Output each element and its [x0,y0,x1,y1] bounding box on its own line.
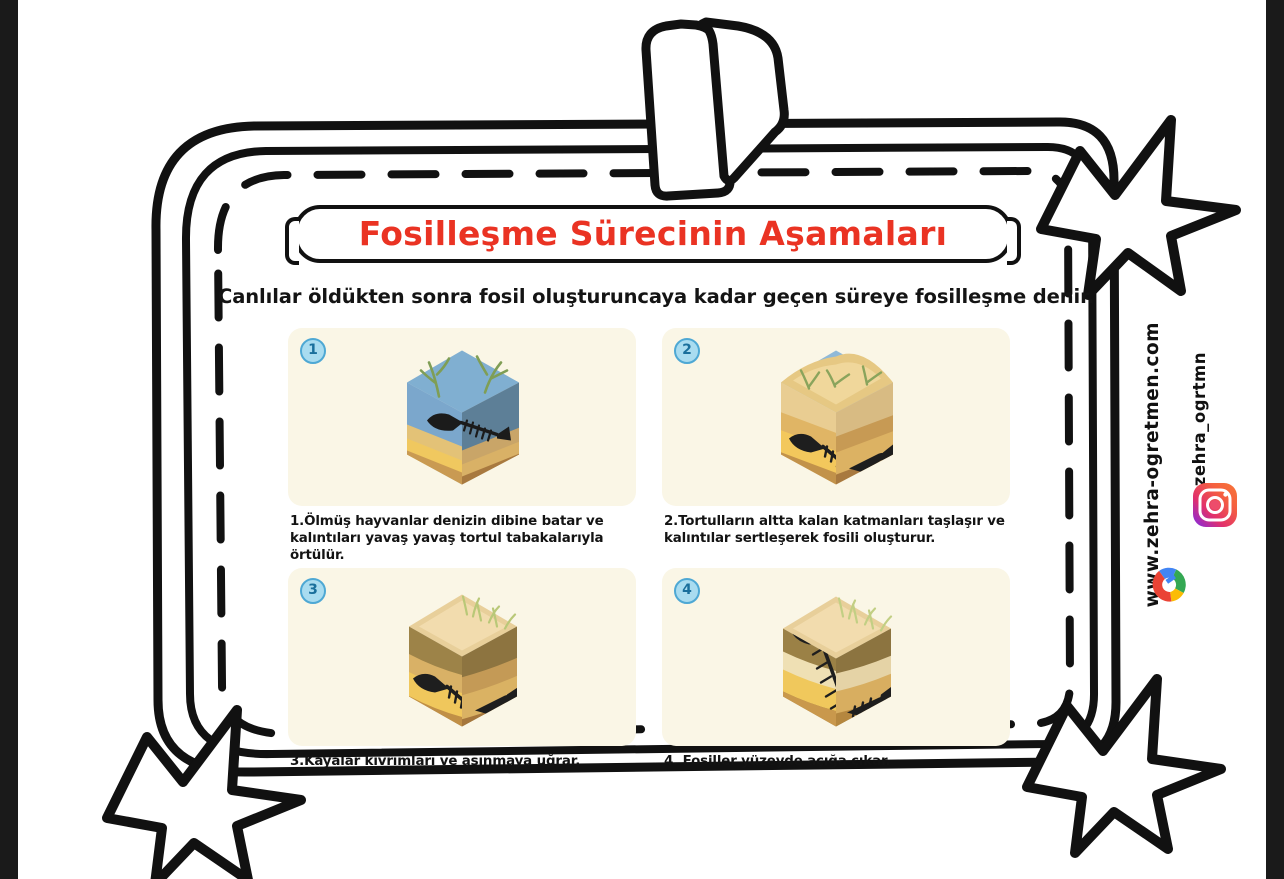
instagram-icon [1191,481,1239,529]
stage-3-caption: 3.Kayalar kıvrımları ve aşınmaya uğrar. [288,753,644,770]
stage-1-card: 1 [288,328,636,506]
stage-2-caption: 2.Tortulların altta kalan katmanları taş… [662,513,1018,547]
stage-item: 1 [288,328,644,564]
stage-item: 4 [662,568,1018,770]
worksheet-page: Fosilleşme Sürecinin Aşamaları Canlılar … [0,0,1284,879]
worksheet-content: Fosilleşme Sürecinin Aşamaları Canlılar … [218,205,1088,815]
paper-clip-icon [646,22,784,196]
instagram-handle-watermark: zehra_ogrtmn [1190,352,1209,486]
stage-item: 3 [288,568,644,770]
stage-2-card: 2 [662,328,1010,506]
stages-grid: 1 [218,328,1088,771]
stage-3-card: 3 [288,568,636,746]
stage-4-caption: 4. Fosiller yüzeyde açığa çıkar. [662,753,1018,770]
stage-item: 2 [662,328,1018,564]
worksheet-sheet: Fosilleşme Sürecinin Aşamaları Canlılar … [18,0,1266,879]
title-plate: Fosilleşme Sürecinin Aşamaları [294,205,1012,263]
fossil-stage-2-illustration [731,335,941,500]
stage-2-badge: 2 [674,338,700,364]
fossil-stage-1-illustration [357,335,567,500]
fossil-stage-3-illustration [357,575,567,740]
page-title: Fosilleşme Sürecinin Aşamaları [298,209,1008,259]
stage-3-badge: 3 [300,578,326,604]
stage-4-badge: 4 [674,578,700,604]
stage-1-badge: 1 [300,338,326,364]
stage-1-caption: 1.Ölmüş hayvanlar denizin dibine batar v… [288,513,644,564]
subtitle-text: Canlılar öldükten sonra fosil oluşturunc… [218,285,1088,308]
google-g-icon [1146,562,1192,608]
fossil-stage-4-illustration [731,575,941,740]
stage-4-card: 4 [662,568,1010,746]
